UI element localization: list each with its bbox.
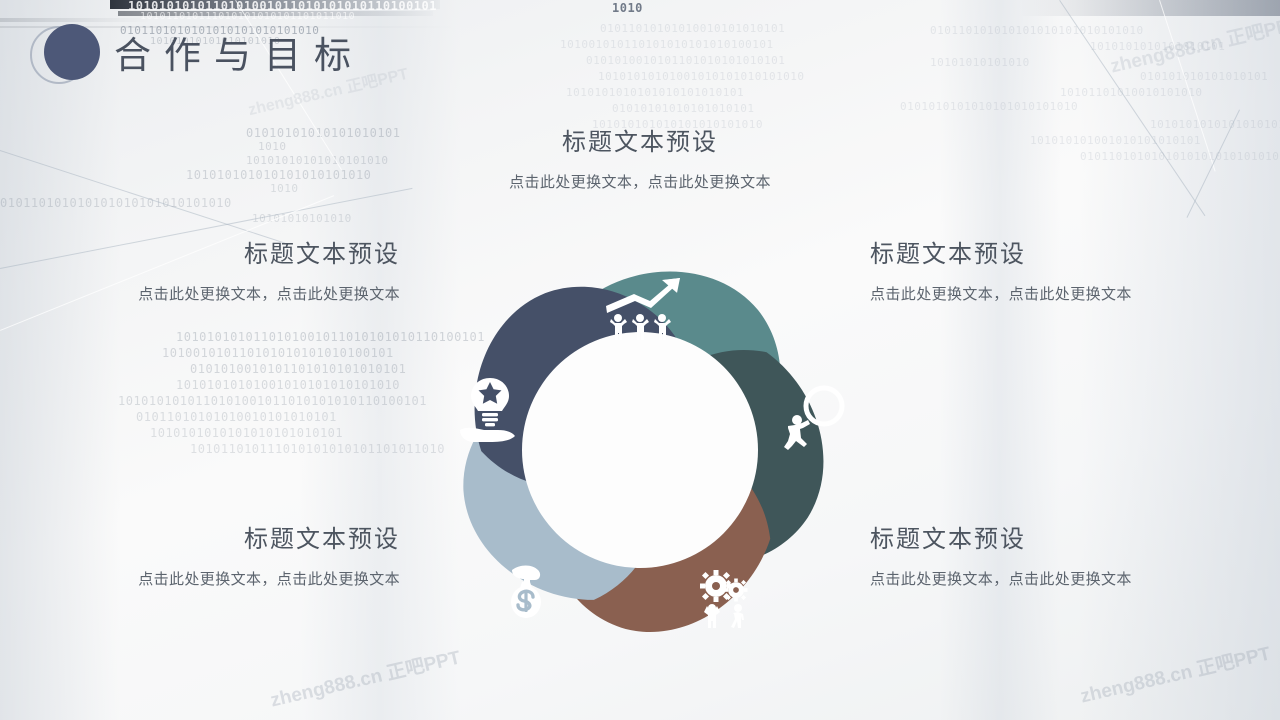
- bg-column-shade-far-right: [940, 0, 1060, 720]
- block-heading: 标题文本预设: [40, 527, 400, 553]
- bg-binary-text: 10101010101001010101010101010: [176, 378, 400, 392]
- bg-column-shade-right: [1080, 0, 1280, 720]
- bg-binary-text: 10101010101010101010: [246, 154, 388, 167]
- bg-binary-text: 1010101010110101001011010101010110100101: [128, 0, 437, 13]
- bg-binary-text: 101010101010101010101010: [186, 168, 371, 182]
- pinwheel-svg: [428, 236, 852, 660]
- bg-band: [1020, 0, 1280, 16]
- bg-binary-text: 0101010101010101010101010: [900, 100, 1078, 113]
- bg-binary-text: 101010101001010101010101: [1030, 134, 1201, 147]
- watermark: zheng888.cn 正吧PPT: [1077, 638, 1272, 708]
- bg-binary-text: 10101010101001010101010101010: [598, 70, 805, 83]
- bg-binary-text: 101011010111010101010101101011010: [190, 442, 445, 456]
- block-body: 点击此处更换文本，点击此处更换文本: [870, 567, 1180, 593]
- block-heading: 标题文本预设: [40, 242, 400, 268]
- text-block-top[interactable]: 标题文本预设 点击此处更换文本，点击此处更换文本: [470, 130, 810, 197]
- bg-binary-text: 0101010010101101010101010101: [586, 54, 785, 67]
- bg-accent-line: [1186, 110, 1240, 218]
- hand-holding-money-bag-icon: [511, 566, 541, 619]
- bg-binary-text: 0101010010101101010101010101: [190, 362, 406, 376]
- watermark: zheng888.cn 正吧PPT: [1107, 8, 1280, 78]
- bg-binary-text: 101011010111010101010101101011010: [140, 11, 355, 22]
- title-decoration: [30, 24, 104, 86]
- bg-binary-text: 01011010101010010101010101: [136, 410, 337, 424]
- text-block-bottom-right[interactable]: 标题文本预设 点击此处更换文本，点击此处更换文本: [870, 527, 1180, 594]
- bg-binary-text: 1010: [270, 182, 299, 195]
- bg-binary-text: 01010101010101010101: [612, 102, 754, 115]
- text-block-left[interactable]: 标题文本预设 点击此处更换文本，点击此处更换文本: [40, 242, 400, 309]
- bg-binary-text: 1010101010101010101010101: [566, 86, 744, 99]
- bg-binary-text: 01011010101010010101010101: [600, 22, 785, 35]
- block-body: 点击此处更换文本，点击此处更换文本: [40, 567, 400, 593]
- bg-column-shade-left: [0, 0, 120, 720]
- pinwheel-diagram: [428, 236, 852, 660]
- block-heading: 标题文本预设: [870, 242, 1180, 268]
- bg-binary-text: 1010: [612, 1, 643, 15]
- bg-accent-line: [0, 150, 285, 244]
- bg-binary-text: 0101101010101010101010101010: [1080, 150, 1279, 163]
- bg-binary-text: 10101010101010: [252, 212, 352, 225]
- bg-binary-text: 1010101010101010101010101010: [1150, 118, 1280, 131]
- bg-binary-text: 101001010110101010101010100101: [560, 38, 774, 51]
- presentation-slide: 1010101010110101001011010101010110100101…: [0, 0, 1280, 720]
- bg-accent-line: [1059, 0, 1205, 216]
- bg-band: [110, 0, 440, 9]
- block-body: 点击此处更换文本，点击此处更换文本: [40, 282, 400, 308]
- pinwheel-center-hub: [522, 332, 758, 568]
- block-heading: 标题文本预设: [870, 527, 1180, 553]
- text-block-bottom-left[interactable]: 标题文本预设 点击此处更换文本，点击此处更换文本: [40, 527, 400, 594]
- block-heading: 标题文本预设: [470, 130, 810, 156]
- bg-band: [0, 18, 150, 22]
- block-body: 点击此处更换文本，点击此处更换文本: [870, 282, 1180, 308]
- bg-binary-text: 10101101010010101010: [1060, 86, 1202, 99]
- bg-binary-text: 1010: [258, 140, 287, 153]
- block-body: 点击此处更换文本，点击此处更换文本: [470, 170, 810, 196]
- bg-binary-text: 010110101010101010101010101010: [0, 196, 232, 210]
- bg-binary-text: 1010101010101010101: [1090, 40, 1225, 53]
- circle-filled-icon: [44, 24, 100, 80]
- page-title: 合作与目标: [114, 37, 364, 74]
- bg-band: [118, 11, 433, 16]
- bg-binary-text: 1010101010110101001011010101010110100101: [118, 394, 427, 408]
- bg-binary-text: 101001010110101010101010100101: [162, 346, 394, 360]
- bg-binary-text: 010101010101010101: [1140, 70, 1268, 83]
- bg-accent-line: [1159, 0, 1216, 171]
- slide-title-bar: 合作与目标: [30, 24, 364, 86]
- bg-binary-text: 010110101010101010101010101010: [930, 24, 1144, 37]
- bg-binary-text: 01010101010101010101: [246, 126, 401, 140]
- bg-binary-text: 10101010101010: [930, 56, 1030, 69]
- text-block-right[interactable]: 标题文本预设 点击此处更换文本，点击此处更换文本: [870, 242, 1180, 309]
- bg-binary-text: 1010101010101010101010101: [150, 426, 343, 440]
